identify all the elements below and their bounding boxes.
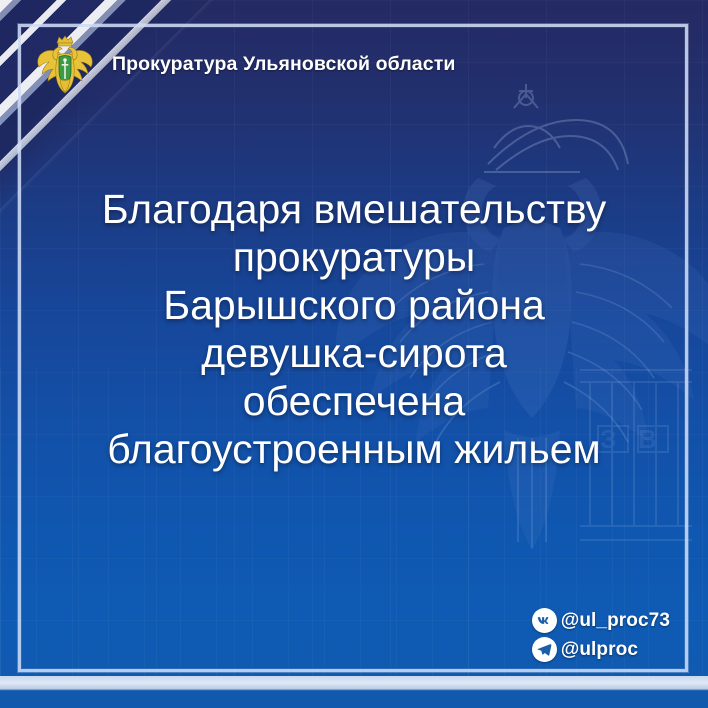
headline-line: благоустроенным жильем xyxy=(26,426,682,474)
social-handle-vk[interactable]: @ul_proc73 xyxy=(561,610,670,632)
headline-line: девушка-сирота xyxy=(26,330,682,378)
vk-icon[interactable] xyxy=(532,608,557,633)
header-bar: Прокуратура Ульяновской области xyxy=(22,28,684,100)
headline-line: обеспечена xyxy=(26,378,682,426)
headline-line: Барышского района xyxy=(26,282,682,330)
telegram-icon[interactable] xyxy=(532,637,557,662)
social-row-telegram[interactable]: @ulproc xyxy=(532,637,638,662)
headline-line: Благодаря вмешательству xyxy=(26,186,682,234)
bottom-band xyxy=(0,676,708,708)
social-row-vk[interactable]: @ul_proc73 xyxy=(532,608,670,633)
social-handle-telegram[interactable]: @ulproc xyxy=(561,639,638,661)
poster-canvas: З В xyxy=(0,0,708,708)
headline-text: Благодаря вмешательству прокуратуры Бары… xyxy=(26,186,682,474)
social-handles: @ul_proc73 @ulproc xyxy=(532,608,670,662)
header-title: Прокуратура Ульяновской области xyxy=(112,53,455,76)
headline-line: прокуратуры xyxy=(26,234,682,282)
prosecutors-office-eagle-icon xyxy=(36,33,94,95)
